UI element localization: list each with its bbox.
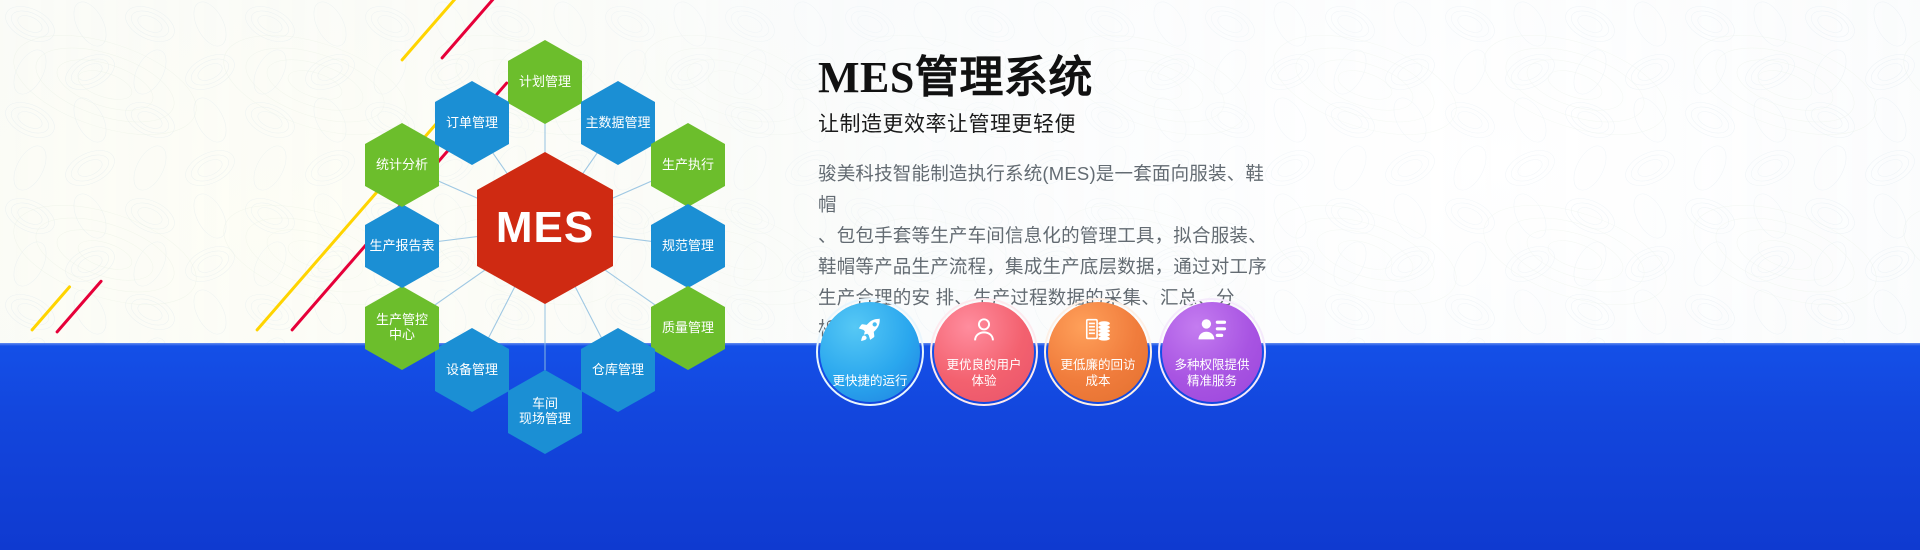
description-line-2: 鞋帽等产品生产流程，集成生产底层数据，通过对工序 <box>818 251 1270 282</box>
description-line-1: 、包包手套等生产车间信息化的管理工具，拟合服装、 <box>818 220 1270 251</box>
hex-node-0-label: 计划管理 <box>515 75 575 90</box>
hex-node-2-label: 生产执行 <box>658 158 718 173</box>
hex-node-11-label: 订单管理 <box>442 116 502 131</box>
rocket-icon <box>820 315 920 345</box>
user-icon <box>934 315 1034 345</box>
description-line-0: 骏美科技智能制造执行系统(MES)是一套面向服装、鞋帽 <box>818 158 1270 220</box>
hex-node-6-label: 车间现场管理 <box>515 397 575 426</box>
badge-faster-operation[interactable]: 更快捷的运行 <box>820 302 920 402</box>
badge-better-experience-label: 更优良的用户 体验 <box>938 357 1029 389</box>
hex-node-5-label: 仓库管理 <box>588 363 648 378</box>
feature-badges: 更快捷的运行 更优良的用户 体验 <box>820 302 1262 402</box>
badge-lower-cost-label: 更低廉的回访 成本 <box>1052 357 1143 389</box>
badge-faster-operation-label: 更快捷的运行 <box>824 373 915 389</box>
hex-node-7-label: 设备管理 <box>442 363 502 378</box>
mes-hex-diagram: MES 计划管理 主数据管理 生产执行 规范管理 质量管理 仓库管理 车间现场管… <box>330 18 790 438</box>
page-title: MES管理系统 <box>818 54 1878 102</box>
badge-permissions[interactable]: 多种权限提供 精准服务 <box>1162 302 1262 402</box>
hex-node-9-label: 生产报告表 <box>365 239 438 254</box>
coins-icon <box>1048 315 1148 345</box>
hex-node-1-label: 主数据管理 <box>581 116 654 131</box>
hex-node-4-label: 质量管理 <box>658 321 718 336</box>
badge-permissions-label: 多种权限提供 精准服务 <box>1166 357 1257 389</box>
hex-node-8-label: 生产管控中心 <box>372 313 432 342</box>
hex-node-10-label: 统计分析 <box>372 158 432 173</box>
hex-node-center-label: MES <box>492 203 598 252</box>
contact-icon <box>1162 315 1262 345</box>
page-subtitle: 让制造更效率让管理更轻便 <box>818 108 1878 138</box>
badge-better-experience[interactable]: 更优良的用户 体验 <box>934 302 1034 402</box>
badge-lower-cost[interactable]: 更低廉的回访 成本 <box>1048 302 1148 402</box>
hex-node-3-label: 规范管理 <box>658 239 718 254</box>
banner-root: MES 计划管理 主数据管理 生产执行 规范管理 质量管理 仓库管理 车间现场管… <box>0 0 1920 550</box>
